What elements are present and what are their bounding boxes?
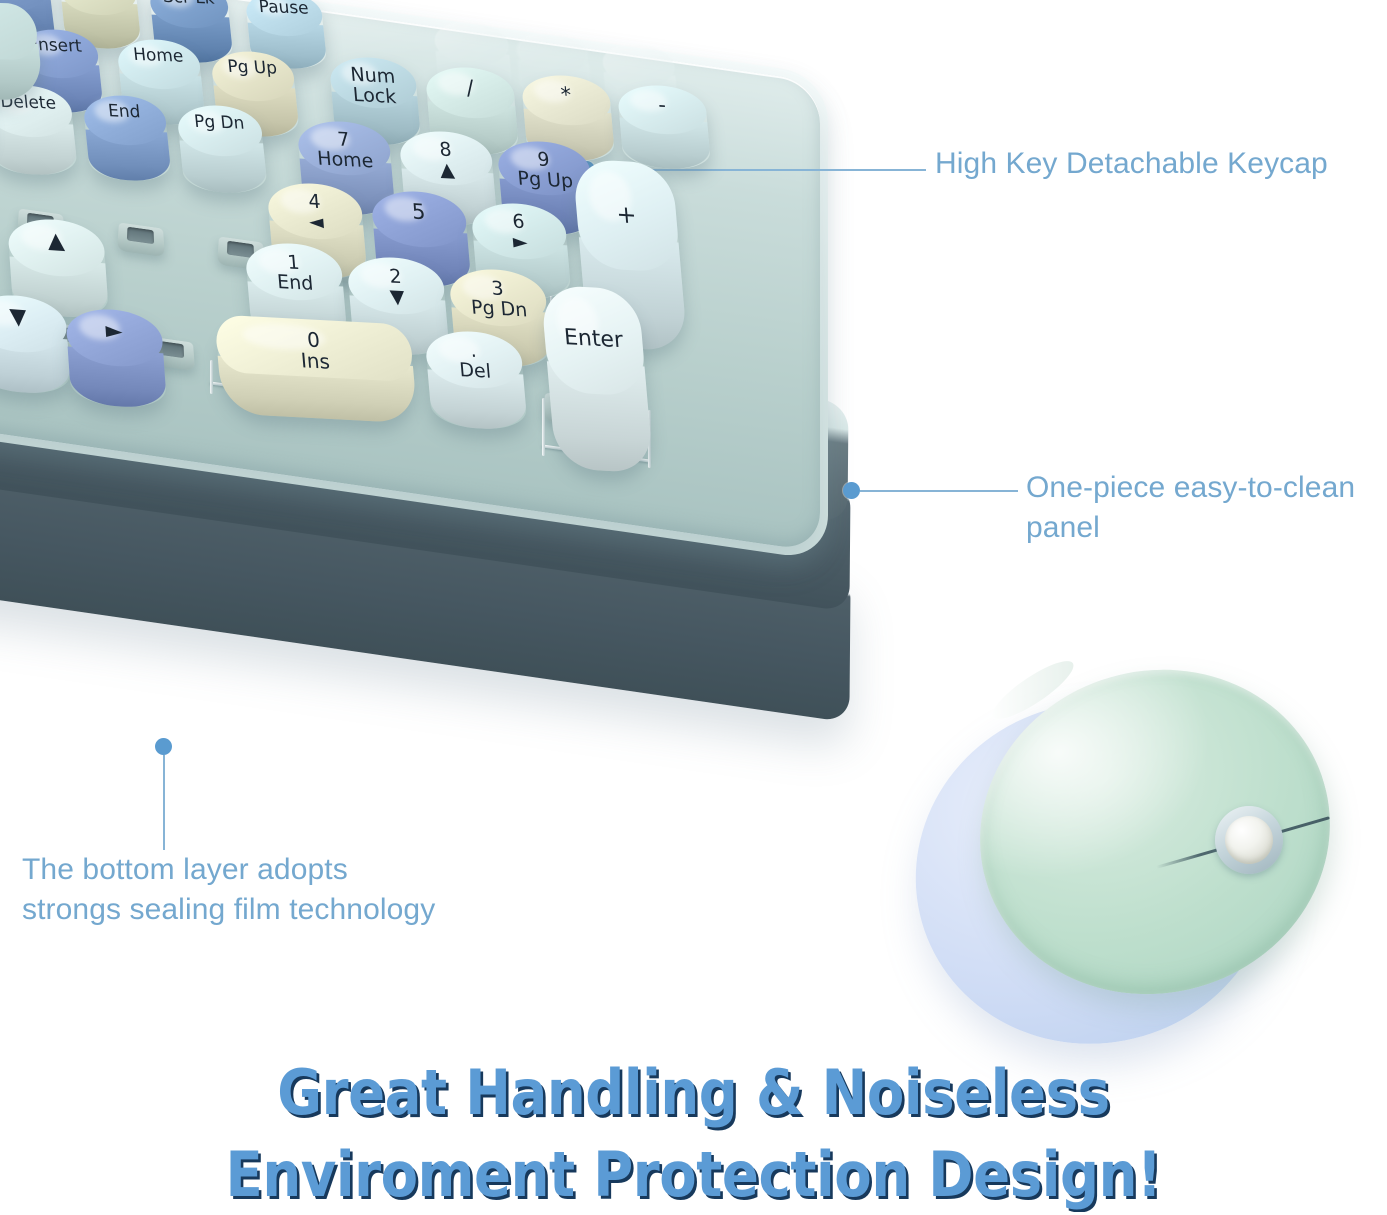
callout-dot-panel	[843, 482, 860, 499]
stabilizer-wire-leg	[542, 398, 545, 456]
product-feature-graphic: F11F12Prt ScScr LkPauseInsertHomePg UpDe…	[0, 0, 1387, 1215]
headline-line-2: Enviroment Protection Design!	[83, 1134, 1304, 1215]
callout-text-panel: One-piece easy-to-clean panel	[1026, 468, 1355, 547]
keycap-0-ins[interactable]: 0 Ins	[214, 314, 418, 423]
mouse-scroll-wheel	[1225, 816, 1273, 864]
callout-leader-line-bottom	[163, 755, 165, 850]
callout-leader-line-panel	[860, 490, 1018, 492]
keycap-top-surface	[214, 314, 414, 382]
callout-text-keycap: High Key Detachable Keycap	[935, 144, 1328, 184]
headline-line-1: Great Handling & Noiseless	[83, 1052, 1304, 1134]
keyboard-assembly: F11F12Prt ScScr LkPauseInsertHomePg UpDe…	[0, 0, 1000, 840]
wireless-mouse	[915, 655, 1345, 1050]
stabilizer-wire-leg	[210, 360, 213, 394]
callout-dot-bottom	[155, 738, 172, 755]
callout-text-bottom: The bottom layer adopts strongs sealing …	[22, 850, 435, 929]
headline: Great Handling & Noiseless Enviroment Pr…	[83, 1052, 1304, 1215]
